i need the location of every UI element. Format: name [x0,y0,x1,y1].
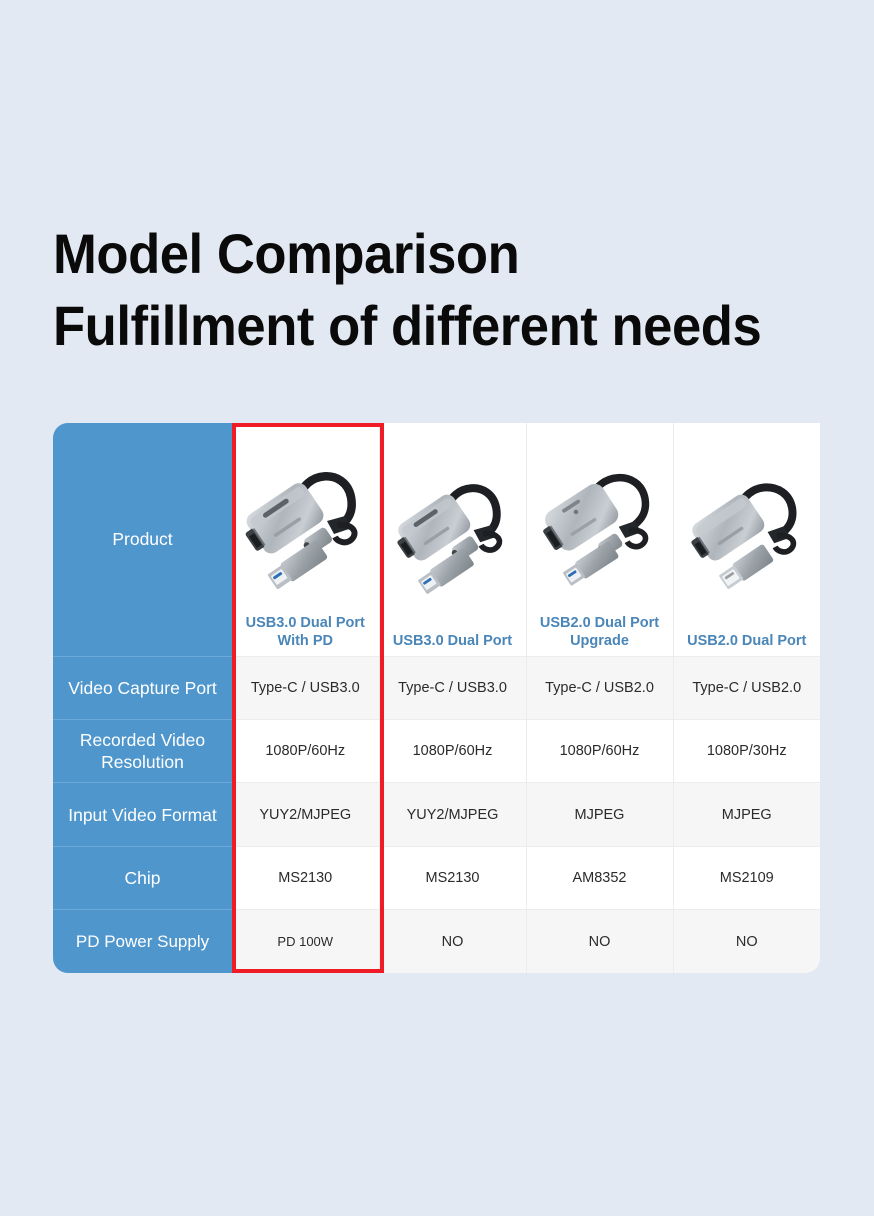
row-label: Video Capture Port [53,656,232,719]
table-cell: MS2130 [232,846,379,909]
page-title: Model Comparison Fulfillment of differen… [53,218,853,362]
table-cell: Type-C / USB3.0 [379,656,526,719]
table-cell: 1080P/60Hz [232,720,379,783]
table-cell: NO [673,910,820,973]
table-cell: NO [526,910,673,973]
row-label: Input Video Format [53,783,232,846]
product-name-1: USB3.0 Dual Port With PD [232,614,379,656]
table-cell: YUY2/MJPEG [379,783,526,846]
table-cell: 1080P/60Hz [379,720,526,783]
row-label: Recorded Video Resolution [53,720,232,783]
heading-line-2: Fulfillment of different needs [53,290,805,362]
capture-card-icon [393,431,513,632]
table-cell: MJPEG [673,783,820,846]
table-cell: PD 100W [232,910,379,973]
product-name-3: USB2.0 Dual Port Upgrade [527,614,673,656]
product-cell-4: USB2.0 Dual Port [673,423,820,656]
table-row-product: Product [53,423,820,656]
table-cell: YUY2/MJPEG [232,783,379,846]
table-cell: AM8352 [526,846,673,909]
table-row: Chip MS2130 MS2130 AM8352 MS2109 [53,846,820,909]
table-cell: NO [379,910,526,973]
product-name-2: USB3.0 Dual Port [390,632,515,656]
product-name-4: USB2.0 Dual Port [684,632,809,656]
row-label-product: Product [53,423,232,656]
table-cell: 1080P/60Hz [526,720,673,783]
table-cell: MS2109 [673,846,820,909]
capture-card-icon [540,431,660,614]
comparison-table-wrapper: Product [53,423,820,973]
product-cell-1: USB3.0 Dual Port With PD [232,423,379,656]
table-row: Video Capture Port Type-C / USB3.0 Type-… [53,656,820,719]
product-cell-2: USB3.0 Dual Port [379,423,526,656]
model-comparison-table: Product [53,423,820,973]
product-cell-3: USB2.0 Dual Port Upgrade [526,423,673,656]
table-cell: MS2130 [379,846,526,909]
table-row: Input Video Format YUY2/MJPEG YUY2/MJPEG… [53,783,820,846]
capture-card-icon [241,431,369,614]
capture-card-icon [687,431,807,632]
table-cell: 1080P/30Hz [673,720,820,783]
table-row: Recorded Video Resolution 1080P/60Hz 108… [53,720,820,783]
heading-line-1: Model Comparison [53,218,805,290]
row-label: PD Power Supply [53,910,232,973]
table-cell: Type-C / USB3.0 [232,656,379,719]
table-cell: MJPEG [526,783,673,846]
table-row: PD Power Supply PD 100W NO NO NO [53,910,820,973]
table-cell: Type-C / USB2.0 [673,656,820,719]
row-label: Chip [53,846,232,909]
table-cell: Type-C / USB2.0 [526,656,673,719]
